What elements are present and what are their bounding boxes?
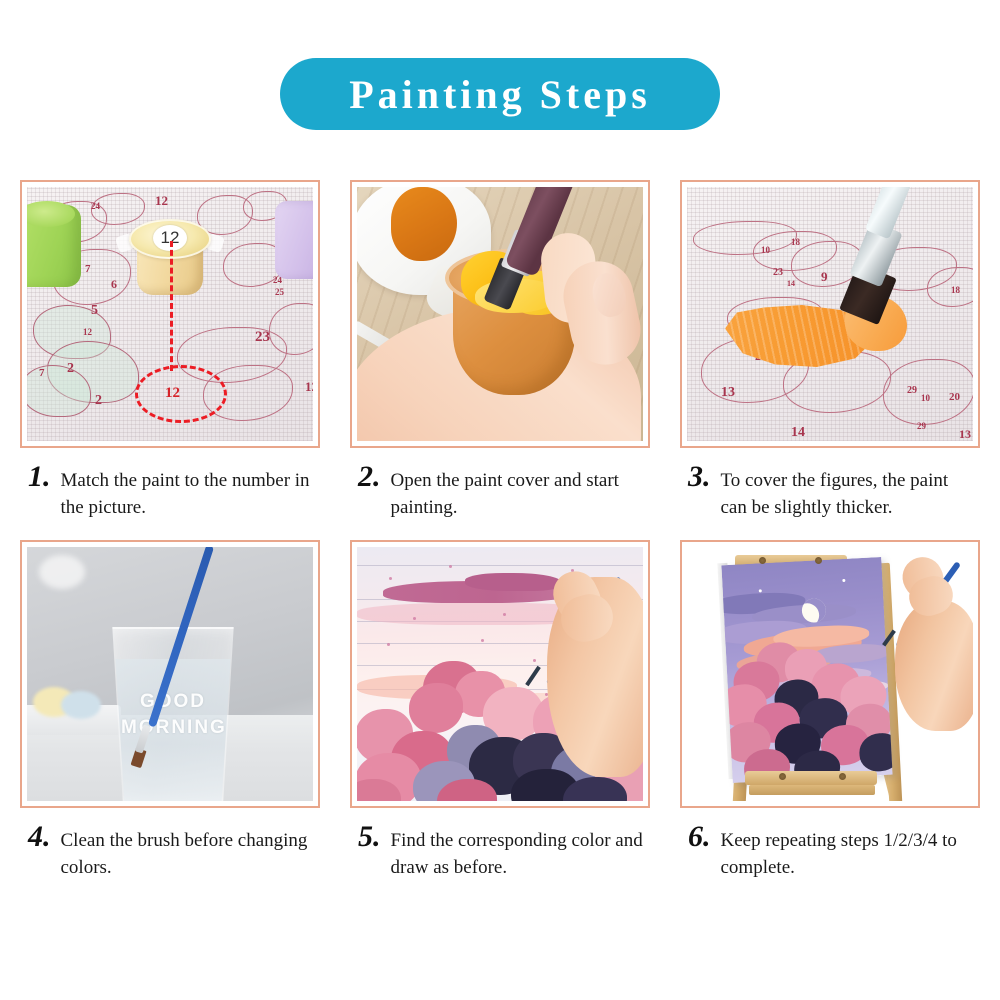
canvas-number: 25: [275, 287, 284, 297]
step-number: 2.: [358, 464, 381, 490]
step-4-photo-frame: GOOD MORNING: [20, 540, 320, 808]
page-title: Painting Steps: [349, 71, 651, 118]
step-number: 5.: [358, 824, 381, 850]
dashed-guide-line: [170, 241, 173, 371]
canvas-number: 10: [761, 245, 770, 255]
step-1-photo-frame: 12 24 2 7 6 5 12 2 7 2 23 24 25 12: [20, 180, 320, 448]
partly-painted-canvas: [357, 547, 643, 801]
canvas-number: 14: [791, 425, 805, 441]
rinsing-brush-in-water-glass-photo: GOOD MORNING: [27, 547, 313, 801]
step-card-5: 5. Find the corresponding color and draw…: [350, 540, 650, 900]
easel-tray: [749, 785, 875, 795]
canvas-number: 13: [721, 385, 735, 401]
highlighted-canvas-number: 12: [165, 385, 180, 402]
canvas-number: 5: [91, 303, 98, 319]
step-card-1: 12 24 2 7 6 5 12 2 7 2 23 24 25 12: [20, 180, 320, 540]
step-text: Find the corresponding color and draw as…: [391, 824, 645, 881]
step-6-caption: 6. Keep repeating steps 1/2/3/4 to compl…: [680, 808, 980, 900]
step-3-caption: 3. To cover the figures, the paint can b…: [680, 448, 980, 540]
header: Painting Steps: [0, 0, 1000, 180]
finished-canvas: [721, 557, 892, 783]
glass-printed-text: GOOD MORNING: [121, 689, 225, 741]
step-4-caption: 4. Clean the brush before changing color…: [20, 808, 320, 900]
cherry-blossom-bush: [727, 659, 893, 783]
canvas-number: 23: [255, 329, 270, 346]
open-paint-pot-photo: [357, 187, 643, 441]
step-text: To cover the figures, the paint can be s…: [721, 464, 975, 521]
brush-covering-numbers-photo: 10 18 23 14 9 20 13 14 29 10 20 18 13 29: [687, 187, 973, 441]
canvas-number: 18: [951, 285, 960, 295]
step-card-6: 6. Keep repeating steps 1/2/3/4 to compl…: [680, 540, 980, 900]
painting-steps-grid: 12 24 2 7 6 5 12 2 7 2 23 24 25 12: [0, 180, 1000, 900]
step-5-caption: 5. Find the corresponding color and draw…: [350, 808, 650, 900]
white-background: [687, 547, 973, 801]
hand: [895, 601, 973, 731]
step-card-3: 10 18 23 14 9 20 13 14 29 10 20 18 13 29: [680, 180, 980, 540]
green-paint-pot: [27, 205, 81, 287]
canvas-number: 2: [67, 361, 74, 377]
canvas-number: 13: [959, 427, 971, 441]
canvas-number: 2: [95, 393, 102, 409]
canvas-number: 23: [773, 267, 783, 278]
step-number: 1.: [28, 464, 51, 490]
easel-bottom-bar: [745, 771, 877, 785]
step-card-4: GOOD MORNING 4. Clean the brush before c…: [20, 540, 320, 900]
step-card-2: 2. Open the paint cover and start painti…: [350, 180, 650, 540]
purple-paint-pot: [275, 201, 313, 279]
step-1-caption: 1. Match the paint to the number in the …: [20, 448, 320, 540]
paint-pot-matching-number-photo: 12 24 2 7 6 5 12 2 7 2 23 24 25 12: [27, 187, 313, 441]
canvas-number: 29: [917, 421, 926, 431]
wooden-table-background: [357, 187, 643, 441]
step-text: Clean the brush before changing colors.: [61, 824, 315, 881]
canvas-number: 7: [85, 263, 91, 275]
painting-cherry-blossom-canvas-photo: [357, 547, 643, 801]
canvas-number: 29: [907, 385, 917, 396]
canvas-number: 10: [921, 393, 930, 403]
step-3-photo-frame: 10 18 23 14 9 20 13 14 29 10 20 18 13 29: [680, 180, 980, 448]
grey-background: GOOD MORNING: [27, 547, 313, 801]
step-5-photo-frame: [350, 540, 650, 808]
canvas-number: 12: [155, 193, 168, 209]
canvas-number: 18: [791, 237, 800, 247]
canvas-number: 14: [787, 279, 795, 288]
canvas-number: 7: [39, 367, 45, 379]
canvas-number: 12: [305, 379, 313, 395]
step-6-photo-frame: [680, 540, 980, 808]
canvas-number: 24: [91, 201, 100, 211]
finished-painting-on-easel-photo: [687, 547, 973, 801]
step-number: 3.: [688, 464, 711, 490]
step-2-caption: 2. Open the paint cover and start painti…: [350, 448, 650, 540]
step-text: Match the paint to the number in the pic…: [61, 464, 315, 521]
step-number: 6.: [688, 824, 711, 850]
canvas-number: 6: [111, 277, 117, 292]
step-2-photo-frame: [350, 180, 650, 448]
canvas-number: 20: [949, 391, 960, 403]
step-text: Keep repeating steps 1/2/3/4 to complete…: [721, 824, 975, 881]
canvas-number: 12: [83, 327, 92, 337]
dashed-highlight-ellipse: [135, 365, 227, 423]
page-title-pill: Painting Steps: [280, 58, 720, 130]
step-number: 4.: [28, 824, 51, 850]
canvas-number: 9: [821, 269, 828, 285]
step-text: Open the paint cover and start painting.: [391, 464, 645, 521]
